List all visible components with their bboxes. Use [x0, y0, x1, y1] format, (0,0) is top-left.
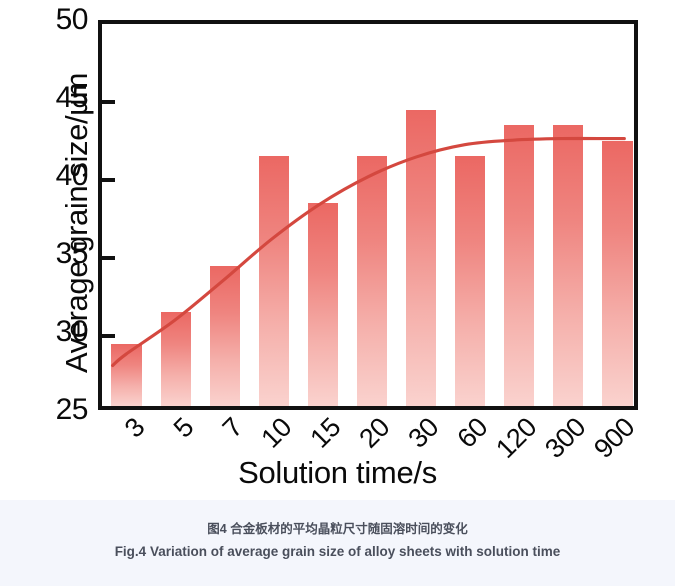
- y-tick-label: 25: [36, 395, 88, 425]
- x-axis-title: Solution time/s: [0, 455, 675, 491]
- y-tick-label: 30: [36, 317, 88, 347]
- y-tick-label: 35: [36, 239, 88, 269]
- plot-inner: [102, 24, 634, 406]
- plot-area: [98, 20, 638, 410]
- trend-line: [102, 24, 634, 406]
- caption-chinese: 图4 合金板材的平均晶粒尺寸随固溶时间的变化: [0, 518, 675, 537]
- y-axis-tick-labels: 253035404550: [32, 0, 88, 500]
- y-tick-label: 40: [36, 161, 88, 191]
- caption-english: Fig.4 Variation of average grain size of…: [0, 544, 675, 559]
- y-tick-mark: [102, 178, 115, 182]
- figure-area: Average grain size/µm 253035404550 35710…: [0, 0, 675, 500]
- y-tick-label: 50: [36, 5, 88, 35]
- y-tick-label: 45: [36, 83, 88, 113]
- y-tick-mark: [102, 334, 115, 338]
- trend-line-path: [113, 138, 625, 365]
- figure-caption: 图4 合金板材的平均晶粒尺寸随固溶时间的变化 Fig.4 Variation o…: [0, 500, 675, 586]
- y-tick-mark: [102, 100, 115, 104]
- y-tick-mark: [102, 256, 115, 260]
